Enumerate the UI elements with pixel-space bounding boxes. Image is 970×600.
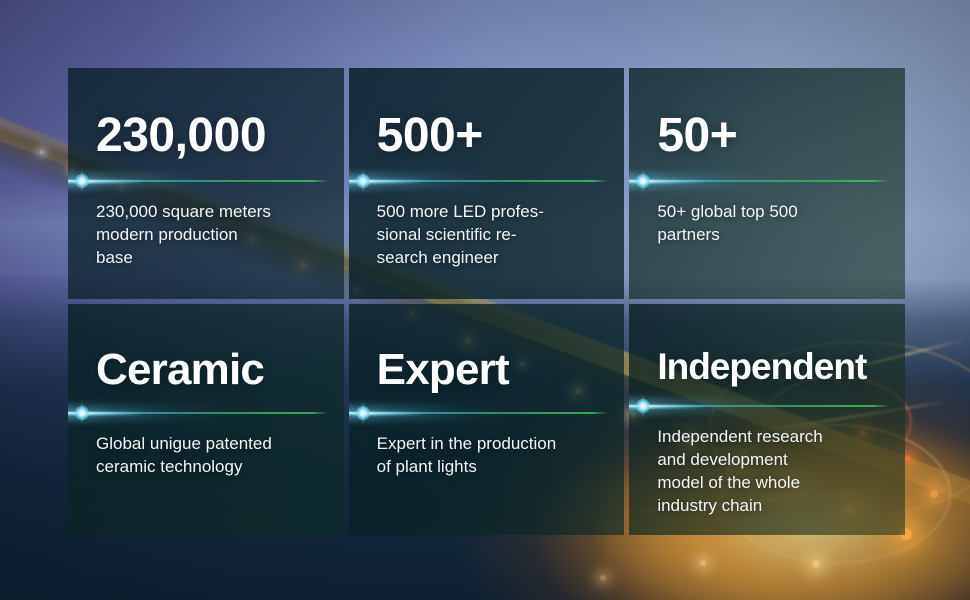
stat-card-ceramic-technology: Ceramic Global unigue patented ceramic t… [68,304,344,535]
stat-description: Independent research and development mod… [657,425,879,517]
stat-description: Expert in the production of plant lights [377,432,599,478]
background-light-dot [600,575,606,581]
stat-headline: Independent [657,348,879,385]
background-light-dot [40,150,44,154]
stat-description: Global unigue patented ceramic technolog… [96,432,318,478]
background-light-dot [905,455,911,461]
background-light-dot [700,560,706,566]
accent-divider [349,174,599,188]
stat-card-global-partners: 50+ 50+ global top 500 partners [629,68,905,299]
stat-description: 50+ global top 500 partners [657,200,879,246]
flare-core [356,406,370,420]
accent-divider [629,174,879,188]
stat-headline: 500+ [377,112,599,160]
flare-core [75,406,89,420]
background-light-dot [812,560,820,568]
accent-divider [629,399,879,413]
stat-headline: 230,000 [96,112,318,160]
stat-headline: Expert [377,348,599,392]
stat-headline: Ceramic [96,348,318,392]
flare-core [356,174,370,188]
stat-card-production-base: 230,000 230,000 square meters modern pro… [68,68,344,299]
accent-divider [349,406,599,420]
stats-banner: 230,000 230,000 square meters modern pro… [0,0,970,600]
flare-core [75,174,89,188]
stat-description: 230,000 square meters modern production … [96,200,318,269]
stat-card-research-engineers: 500+ 500 more LED profes- sional scienti… [349,68,625,299]
stat-description: 500 more LED profes- sional scientific r… [377,200,599,269]
stat-card-grid: 230,000 230,000 square meters modern pro… [68,68,905,535]
stat-card-plant-light-expert: Expert Expert in the production of plant… [349,304,625,535]
accent-divider [68,406,318,420]
accent-divider [68,174,318,188]
background-light-dot [930,490,938,498]
stat-headline: 50+ [657,112,879,160]
stat-card-independent-rd: Independent Independent research and dev… [629,304,905,535]
